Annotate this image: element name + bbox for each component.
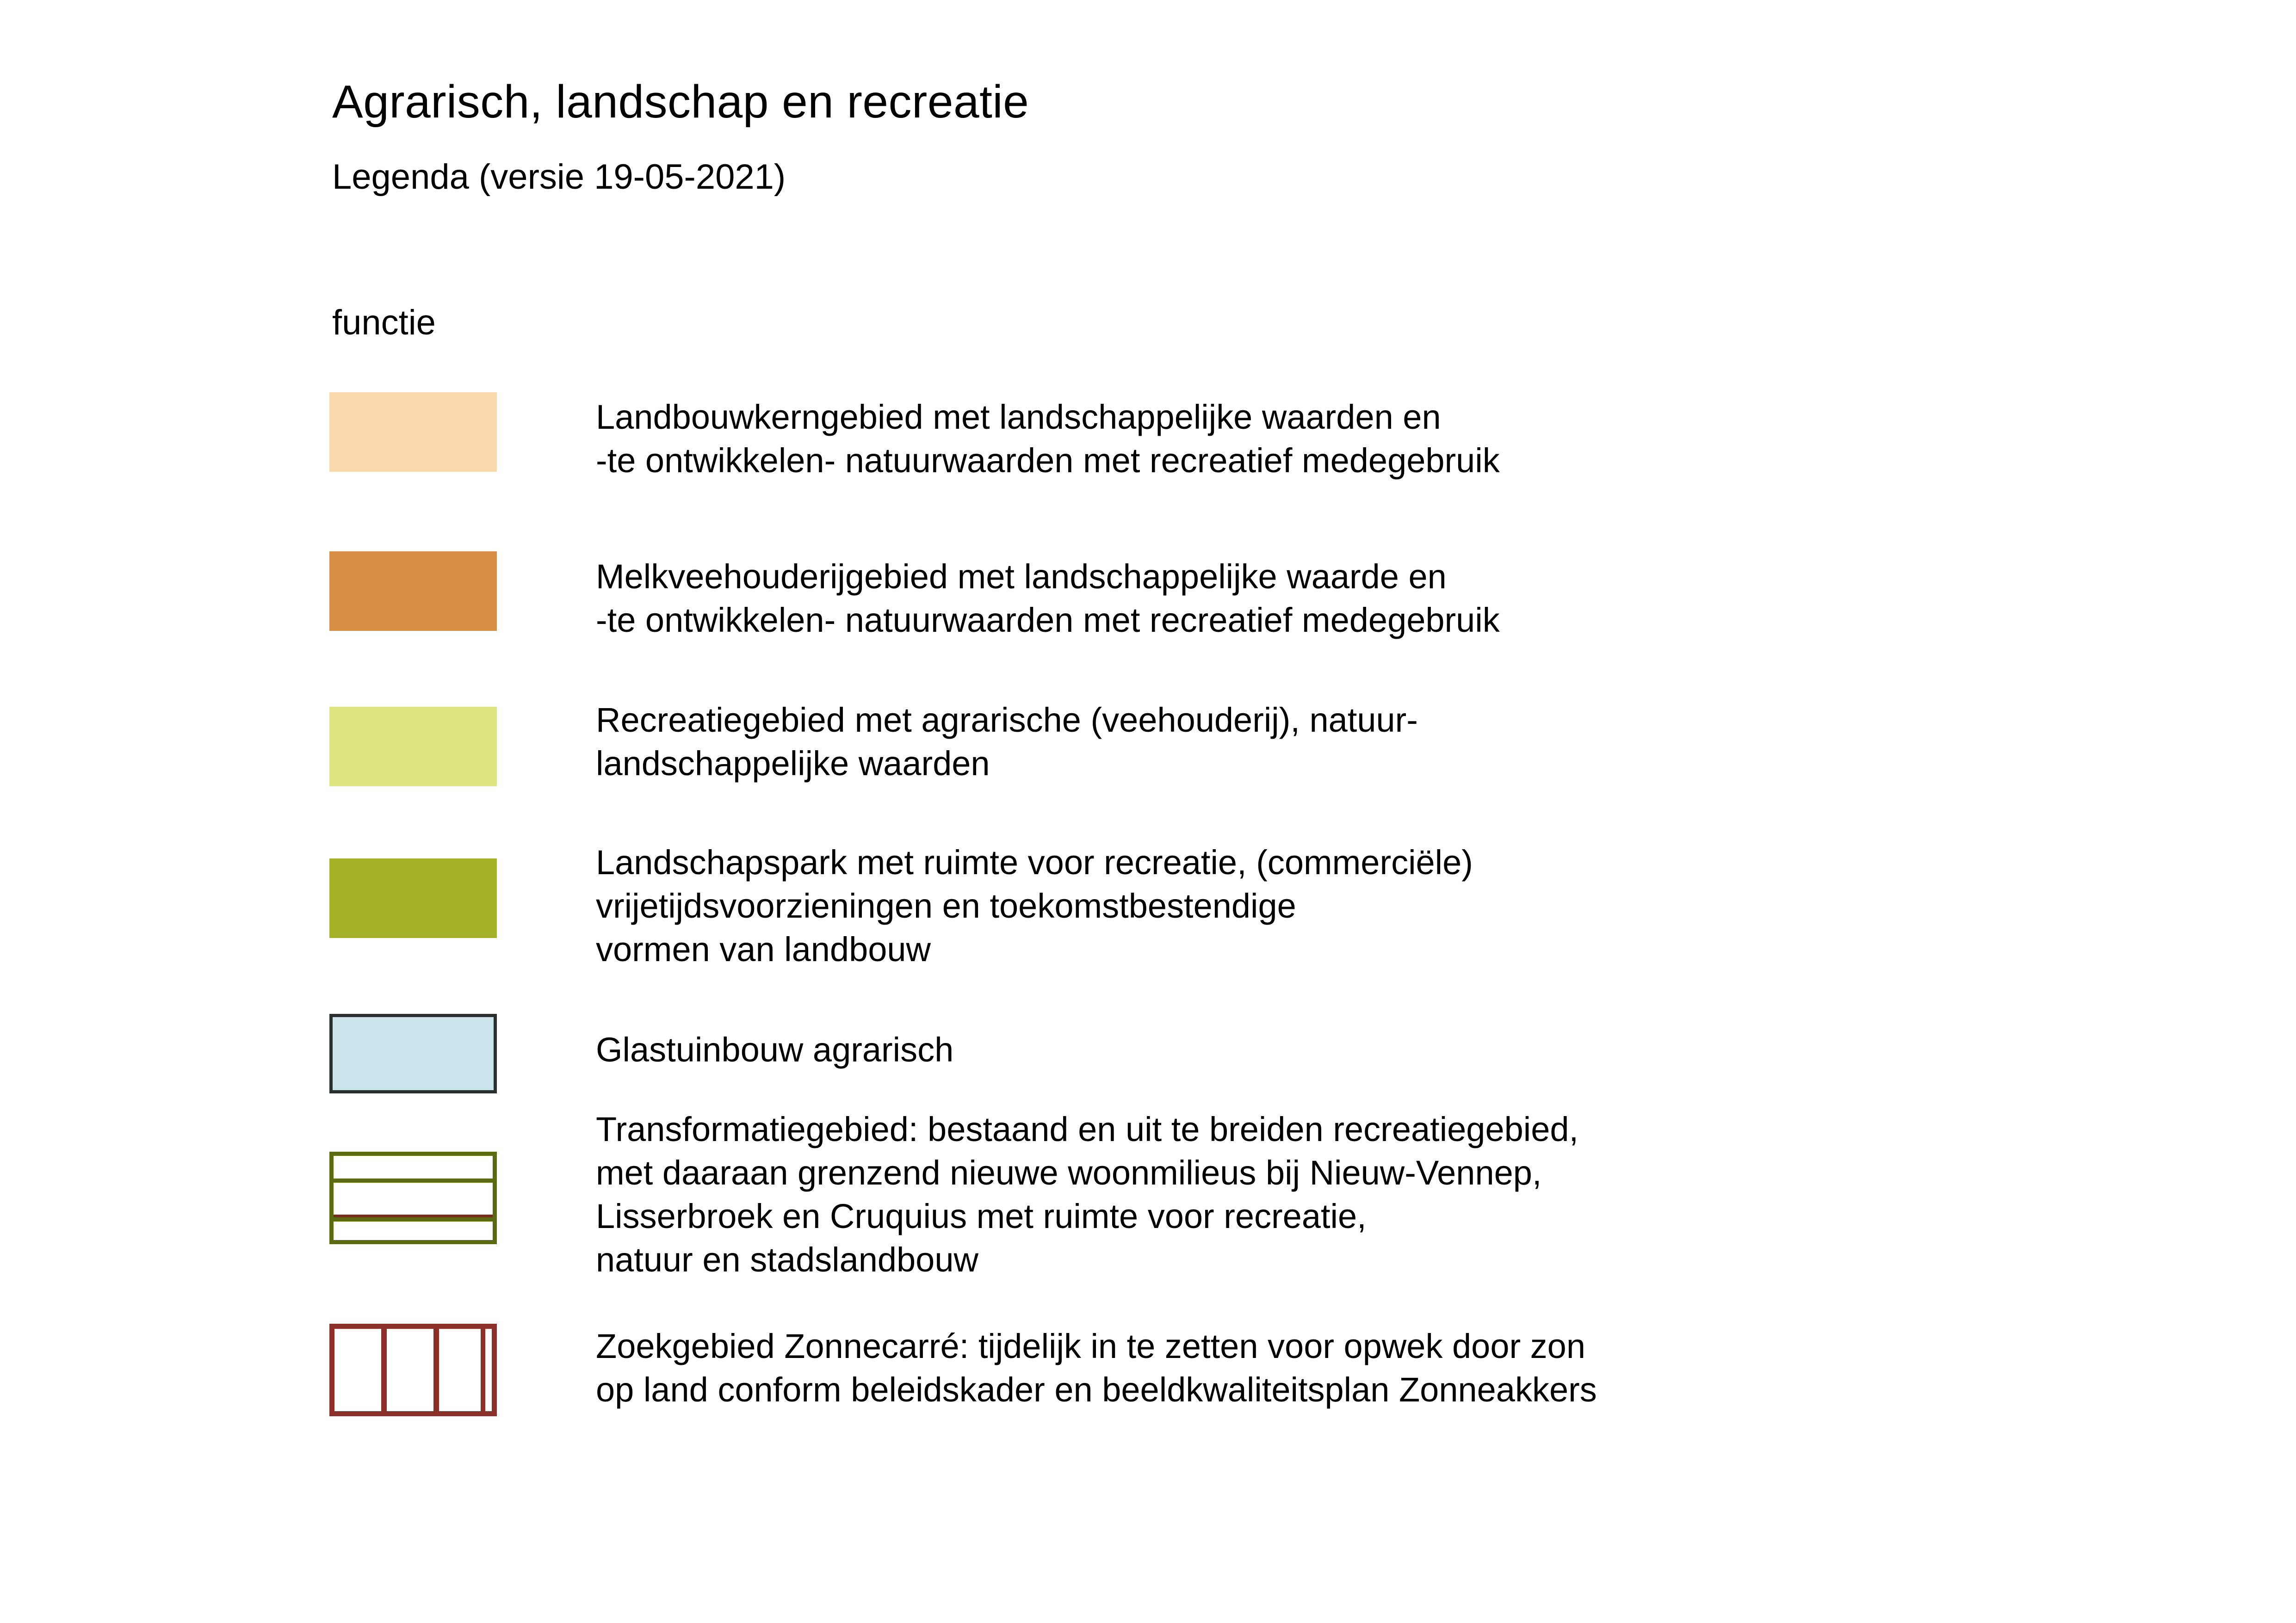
legend-panel: Agrarisch, landschap en recreatie Legend… [0,0,2296,1623]
legend-item-label-line: Recreatiegebied met agrarische (veehoude… [596,698,1418,742]
legend-item-label: Glastuinbouw agrarisch [596,1028,953,1072]
legend-item-label: Landbouwkerngebied met landschappelijke … [596,395,1500,482]
legend-item-label-line: vormen van landbouw [596,928,1473,971]
swatch-zoekgebied-zonnecarre [329,1324,497,1416]
legend-item-label-line: natuur en stadslandbouw [596,1238,1578,1282]
swatch-melkveehouderijgebied [329,551,497,631]
swatch-landbouwkerngebied [329,392,497,472]
legend-item-label: Zoekgebied Zonnecarré: tijdelijk in te z… [596,1325,1597,1412]
legend-item-label-line: landschappelijke waarden [596,742,1418,785]
legend-item-label-line: Transformatiegebied: bestaand en uit te … [596,1108,1578,1151]
legend-item-label: Transformatiegebied: bestaand en uit te … [596,1108,1578,1282]
swatch-transformatiegebied [329,1152,497,1244]
legend-item-label: Melkveehouderijgebied met landschappelij… [596,555,1500,642]
legend-item-label-line: Glastuinbouw agrarisch [596,1028,953,1072]
legend-item-label-line: Landschapspark met ruimte voor recreatie… [596,841,1473,884]
legend-item-label: Recreatiegebied met agrarische (veehoude… [596,698,1418,785]
legend-item-label-line: vrijetijdsvoorzieningen en toekomstbeste… [596,884,1473,928]
legend-item-label-line: Melkveehouderijgebied met landschappelij… [596,555,1500,599]
swatch-recreatiegebied [329,707,497,786]
legend-item-label-line: Landbouwkerngebied met landschappelijke … [596,395,1500,439]
legend-item-label-line: -te ontwikkelen- natuurwaarden met recre… [596,599,1500,642]
swatch-glastuinbouw [329,1014,497,1093]
swatch-landschapspark [329,858,497,938]
legend-item-list: Landbouwkerngebied met landschappelijke … [0,0,2296,1623]
legend-item-label-line: -te ontwikkelen- natuurwaarden met recre… [596,439,1500,482]
legend-item-label-line: Zoekgebied Zonnecarré: tijdelijk in te z… [596,1325,1597,1368]
legend-item-label: Landschapspark met ruimte voor recreatie… [596,841,1473,971]
legend-item-label-line: Lisserbroek en Cruquius met ruimte voor … [596,1195,1578,1238]
legend-item-label-line: op land conform beleidskader en beeldkwa… [596,1368,1597,1412]
legend-item-label-line: met daaraan grenzend nieuwe woonmilieus … [596,1151,1578,1195]
